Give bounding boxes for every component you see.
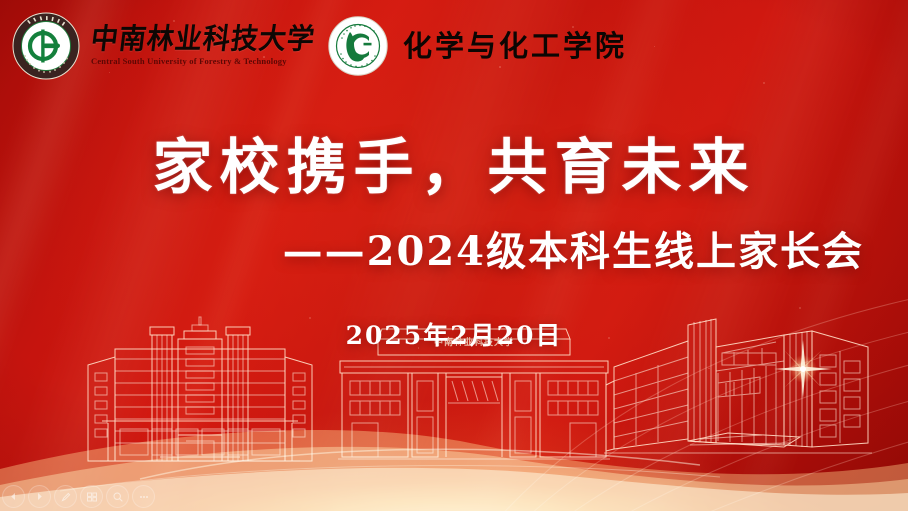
csuft-seal-icon	[12, 12, 80, 80]
presentation-toolbar[interactable]	[2, 485, 155, 508]
slide-date: 2025年2月20日	[0, 316, 908, 352]
magnifier-icon	[112, 491, 124, 503]
pen-annotation-button[interactable]	[54, 485, 77, 508]
slide-title-main: 家校携手，共育未来	[0, 138, 908, 198]
slide-title-sub: ——2024级本科生线上家长会	[283, 232, 864, 272]
slide-header: 中南林业科技大学 Central South University of For…	[12, 12, 627, 80]
pen-icon	[60, 491, 72, 503]
college-name-cn: 化学与化工学院	[403, 32, 627, 61]
all-slides-button[interactable]	[80, 485, 103, 508]
zoom-in-button[interactable]	[106, 485, 129, 508]
university-name-cn: 中南林业科技大学	[89, 25, 317, 54]
college-seal-icon	[328, 16, 388, 76]
university-name-block: 中南林业科技大学 Central South University of For…	[91, 26, 315, 66]
next-slide-button[interactable]	[28, 485, 51, 508]
university-name-en: Central South University of Forestry & T…	[91, 56, 315, 66]
previous-slide-button[interactable]	[2, 485, 25, 508]
ellipsis-icon	[138, 491, 150, 503]
grid-slides-icon	[86, 491, 98, 503]
arrow-right-icon	[34, 491, 45, 502]
presentation-slide: 中南林业科技大学 Central South University of For…	[0, 0, 908, 511]
more-options-button[interactable]	[132, 485, 155, 508]
arrow-left-icon	[8, 491, 19, 502]
